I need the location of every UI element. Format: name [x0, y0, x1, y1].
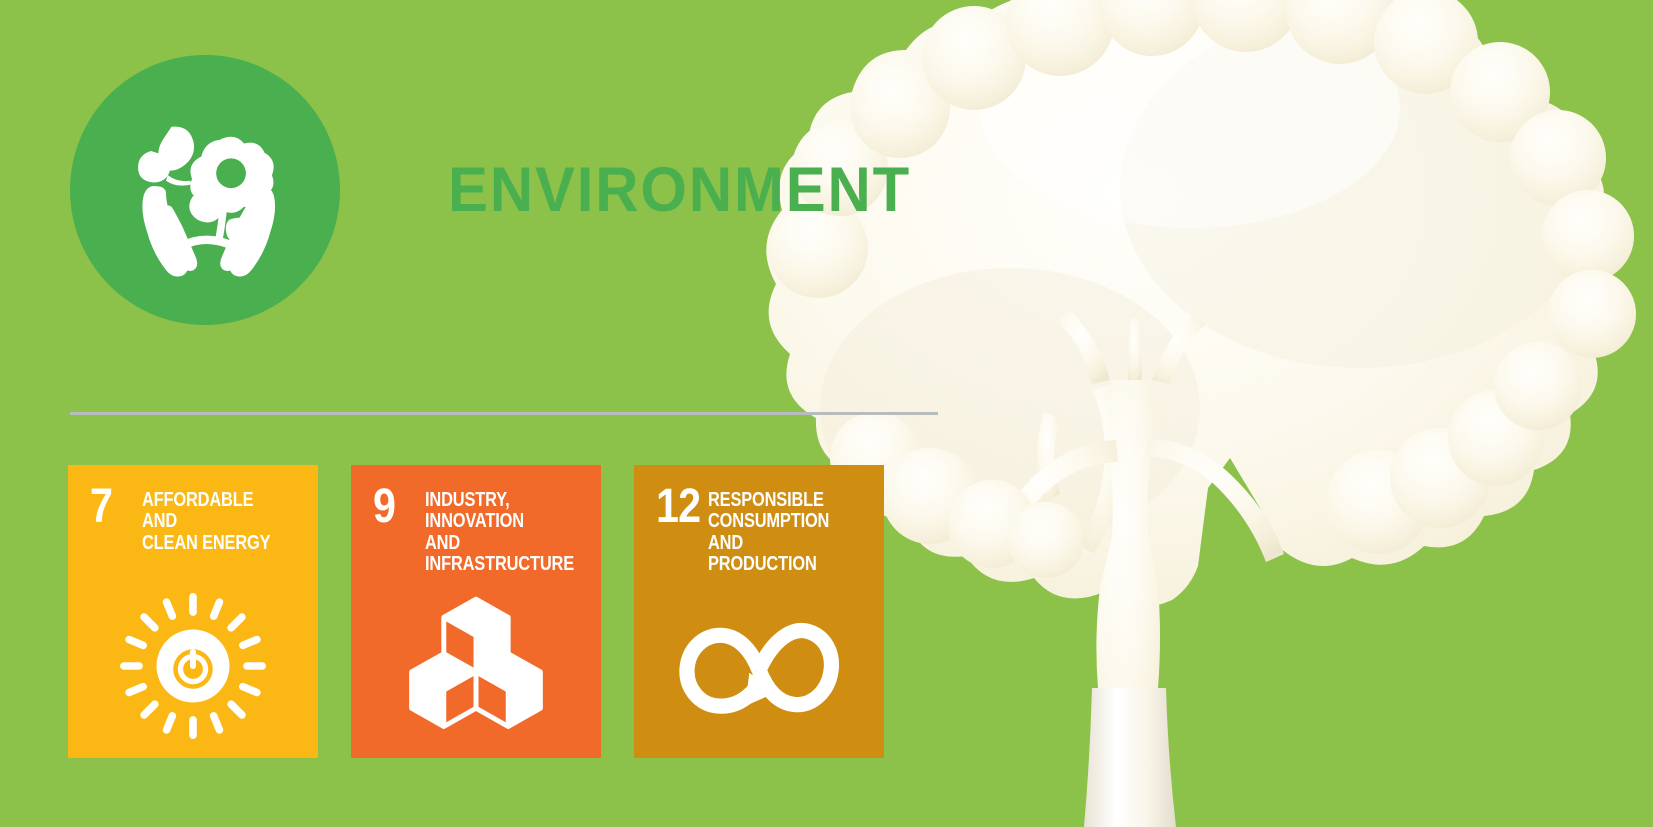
environment-banner: ENVIRONMENT 7 AFFORDABLE AND CLEAN ENERG…: [0, 0, 1653, 827]
sdg-card-12-number-wrap: 12: [656, 487, 708, 526]
cubes-icon: [406, 592, 546, 742]
infinity-loop-arrow-icon: [676, 612, 842, 728]
sdg-card-7-head: 7 AFFORDABLE AND CLEAN ENERGY: [68, 465, 318, 553]
banner-header: ENVIRONMENT: [70, 55, 936, 325]
sdg-card-9-number-wrap: 9: [373, 487, 425, 526]
sdg-card-9-head: 9 INDUSTRY, INNOVATION AND INFRASTRUCTUR…: [351, 465, 601, 574]
sdg-card-7[interactable]: 7 AFFORDABLE AND CLEAN ENERGY: [68, 465, 318, 758]
sdg-card-12-label: RESPONSIBLE CONSUMPTION AND PRODUCTION: [708, 489, 849, 574]
sdg-card-12-head: 12 RESPONSIBLE CONSUMPTION AND PRODUCTIO…: [634, 465, 884, 574]
sdg-card-7-icon-wrap: [68, 590, 318, 742]
sdg-card-7-number-wrap: 7: [90, 487, 142, 526]
environment-badge: [70, 55, 340, 325]
sdg-card-12[interactable]: 12 RESPONSIBLE CONSUMPTION AND PRODUCTIO…: [634, 465, 884, 758]
sdg-card-7-label: AFFORDABLE AND CLEAN ENERGY: [142, 489, 283, 553]
sdg-card-9[interactable]: 9 INDUSTRY, INNOVATION AND INFRASTRUCTUR…: [351, 465, 601, 758]
page-title: ENVIRONMENT: [448, 159, 911, 222]
sdg-card-9-icon-wrap: [351, 592, 601, 742]
sdg-card-12-number: 12: [656, 487, 701, 526]
sdg-card-7-number: 7: [90, 487, 135, 526]
hands-flower-butterfly-icon: [112, 97, 298, 283]
divider: [70, 412, 938, 415]
sdg-card-9-number: 9: [373, 487, 418, 526]
sun-power-icon: [117, 590, 269, 742]
sdg-card-12-icon-wrap: [634, 612, 884, 728]
sdg-card-row: 7 AFFORDABLE AND CLEAN ENERGY: [68, 465, 884, 758]
sdg-card-9-label: INDUSTRY, INNOVATION AND INFRASTRUCTURE: [425, 489, 574, 574]
